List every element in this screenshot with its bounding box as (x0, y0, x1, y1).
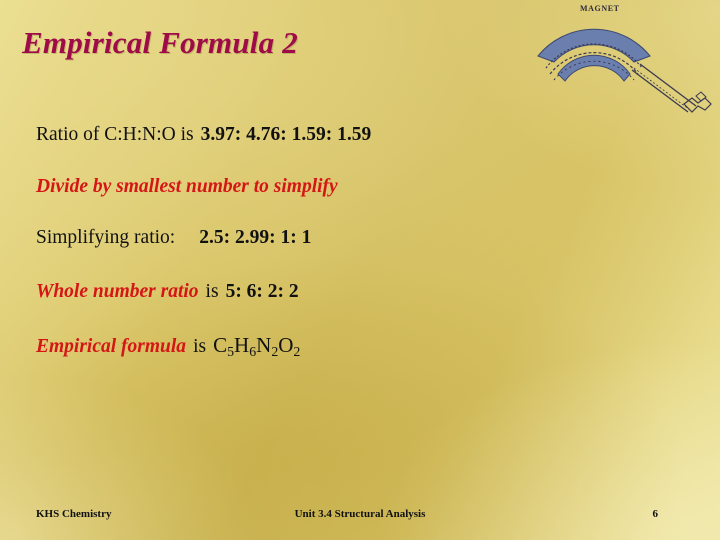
empirical-formula-line: Empirical formulaisC5H6N2O2 (36, 333, 636, 358)
simplifying-ratio-values: 2.5: 2.99: 1: 1 (199, 227, 311, 248)
formula-element-symbol: C (213, 333, 227, 357)
formula-element-symbol: H (234, 333, 249, 357)
magnet-logo: MAGNET (528, 0, 720, 118)
footer-unit-label: Unit 3.4 Structural Analysis (0, 508, 720, 520)
footer-page-number: 6 (653, 508, 659, 520)
empirical-formula-connector: is (193, 336, 206, 357)
whole-number-ratio-values: 5: 6: 2: 2 (226, 281, 299, 302)
simplifying-ratio-line: Simplifying ratio:2.5: 2.99: 1: 1 (36, 227, 636, 249)
simplifying-ratio-label: Simplifying ratio: (36, 227, 175, 248)
formula-element-count: 6 (249, 344, 256, 359)
slide-content: Empirical Formula 2 MAGNET (0, 0, 720, 540)
slide-footer: KHS Chemistry Unit 3.4 Structural Analys… (0, 508, 720, 532)
formula-element-count: 2 (271, 344, 278, 359)
magnet-shaft-line-a (632, 70, 688, 112)
whole-number-ratio-connector: is (206, 281, 219, 302)
ratio-values: 3.97: 4.76: 1.59: 1.59 (201, 124, 372, 145)
magnet-key-notch (696, 92, 706, 101)
page-title: Empirical Formula 2 (22, 25, 562, 61)
magnet-shaft-line-b (640, 64, 696, 106)
formula-element-count: 2 (293, 344, 300, 359)
divide-instruction-line: Divide by smallest number to simplify (36, 176, 636, 198)
formula-element-count: 5 (227, 344, 234, 359)
magnet-shaft-hatch (634, 68, 690, 110)
whole-number-ratio-emphasis: Whole number ratio (36, 281, 199, 302)
ratio-line: Ratio of C:H:N:O is3.97: 4.76: 1.59: 1.5… (36, 124, 636, 146)
magnet-logo-graphic (528, 0, 720, 118)
divide-instruction-text: Divide by smallest number to simplify (36, 176, 338, 197)
ratio-label: Ratio of C:H:N:O is (36, 124, 194, 145)
empirical-formula-value: C5H6N2O2 (213, 333, 300, 357)
magnet-logo-label: MAGNET (580, 4, 620, 13)
whole-number-ratio-line: Whole number ratiois5: 6: 2: 2 (36, 281, 636, 303)
slide: Empirical Formula 2 MAGNET (0, 0, 720, 540)
empirical-formula-emphasis: Empirical formula (36, 336, 186, 357)
formula-element-symbol: N (256, 333, 271, 357)
body-text-block: Ratio of C:H:N:O is3.97: 4.76: 1.59: 1.5… (36, 124, 636, 358)
formula-element-symbol: O (278, 333, 293, 357)
